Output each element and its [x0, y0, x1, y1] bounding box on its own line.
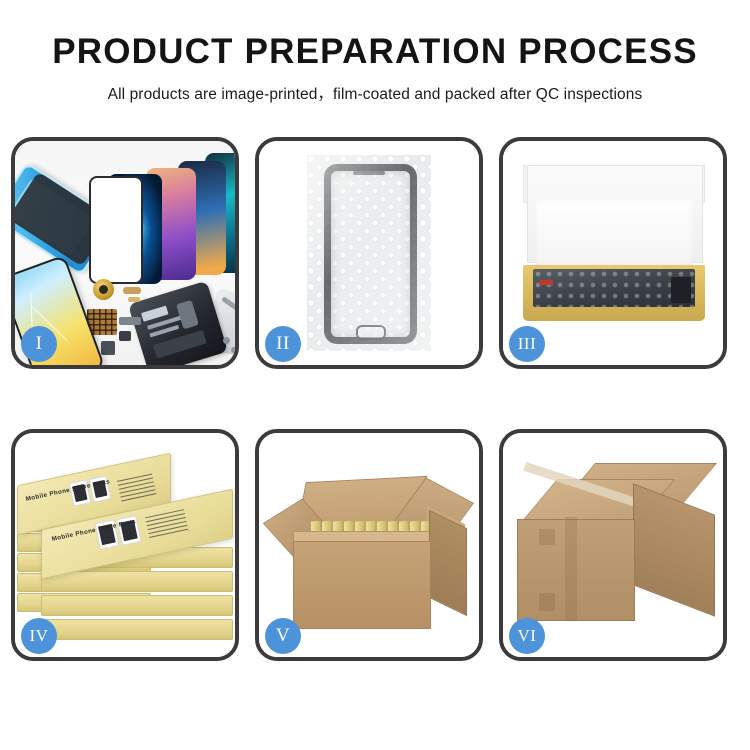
step-panel-6: VI — [499, 429, 727, 661]
gold-connector-part — [123, 287, 141, 294]
carton-handle-cutout-bottom — [539, 593, 555, 611]
open-inner-box — [523, 165, 705, 333]
step-badge-4: IV — [21, 618, 57, 654]
phone-mainboard — [128, 281, 228, 365]
white-foam-padding — [535, 199, 693, 269]
steps-grid: I II — [11, 137, 739, 693]
page-title: PRODUCT PREPARATION PROCESS — [0, 34, 750, 71]
home-button — [356, 325, 386, 340]
red-pull-tab — [539, 280, 553, 285]
camera-module-part — [101, 341, 115, 355]
carton-side-face — [429, 510, 467, 617]
earpiece-speaker — [353, 171, 385, 175]
step-panel-3: III — [499, 137, 727, 369]
page-subtitle: All products are image-printed，film-coat… — [0, 82, 750, 104]
product-preparation-infographic: PRODUCT PREPARATION PROCESS All products… — [0, 0, 750, 750]
step-panel-5: V — [255, 429, 483, 661]
box-stacks: Mobile Phone Spare Parts Mobile Phone Sp… — [15, 451, 235, 647]
screw-part-1 — [223, 337, 230, 344]
screen-connector — [671, 277, 691, 303]
step-badge-3: III — [509, 326, 545, 362]
step-badge-5: V — [265, 618, 301, 654]
step-badge-6: VI — [509, 618, 545, 654]
front-stack-box — [41, 571, 233, 592]
vibrator-part — [119, 331, 131, 341]
carton-handle-cutout-top — [539, 529, 555, 545]
carton-seam — [565, 517, 577, 621]
carton-right-face — [633, 483, 715, 616]
bubble-wrapped-screen — [307, 155, 431, 351]
carton-front-face — [293, 541, 431, 629]
front-stack-box — [41, 619, 233, 640]
gold-contact-part — [128, 297, 140, 302]
screw-part-2 — [231, 347, 235, 353]
screen-outline — [324, 164, 417, 344]
phone-white-front — [89, 176, 143, 284]
sealed-shipping-carton — [517, 475, 713, 627]
header: PRODUCT PREPARATION PROCESS All products… — [0, 0, 750, 104]
front-stack-box — [41, 595, 233, 616]
step-badge-2: II — [265, 326, 301, 362]
step-panel-4: Mobile Phone Spare Parts Mobile Phone Sp… — [11, 429, 239, 661]
open-shipping-carton — [277, 471, 467, 631]
step-panel-1: I — [11, 137, 239, 369]
step-panel-2: II — [255, 137, 483, 369]
copper-coil-part — [93, 279, 114, 300]
ribbon-cable-part — [119, 317, 141, 325]
step-badge-1: I — [21, 326, 57, 362]
